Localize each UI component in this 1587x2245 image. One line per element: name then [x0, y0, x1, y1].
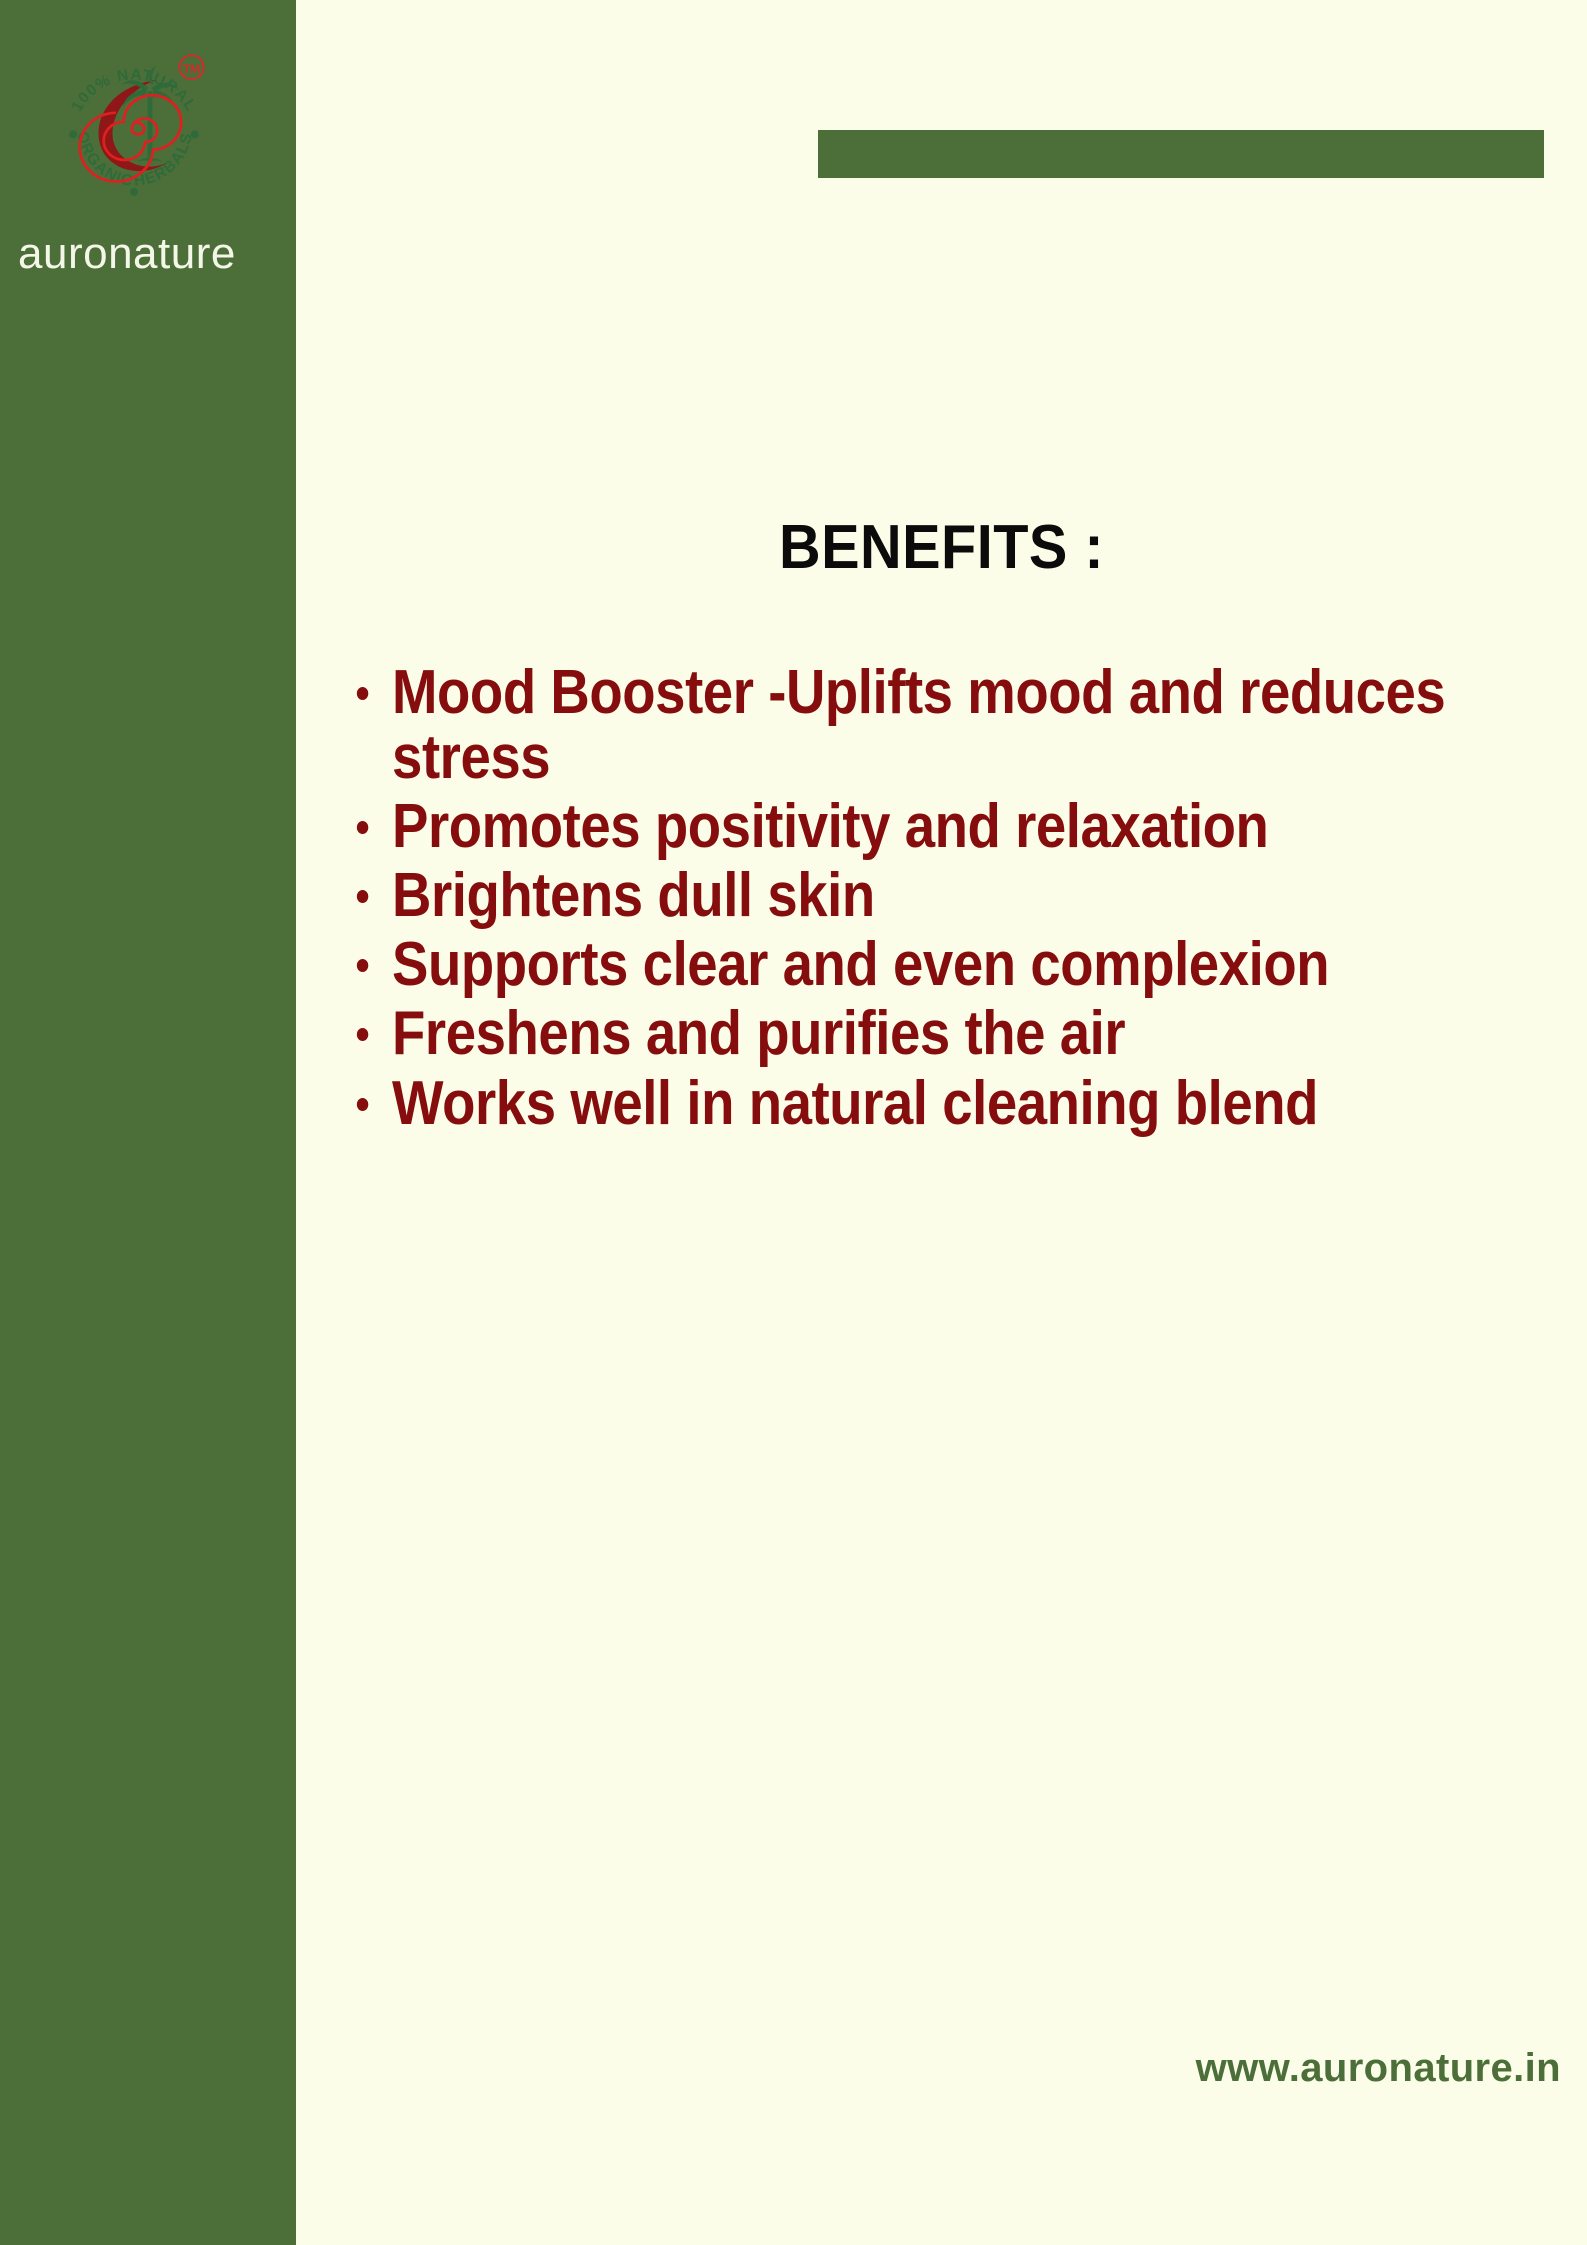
brand-sidebar: 100% NATURAL ORGANIC HERBALS: [0, 0, 296, 2245]
list-item: Brightens dull skin: [341, 863, 1580, 928]
list-item: Mood Booster -Uplifts mood and reduces s…: [341, 660, 1580, 790]
bullet-dot-icon: [357, 1098, 368, 1111]
list-item: Works well in natural cleaning blend: [341, 1071, 1580, 1136]
brand-wordmark: auronature: [18, 232, 308, 276]
list-item-label: Freshens and purifies the air: [392, 999, 1125, 1068]
list-item-label: Promotes positivity and relaxation: [392, 792, 1268, 861]
list-item-label: Supports clear and even complexion: [392, 930, 1329, 999]
bullet-dot-icon: [357, 959, 368, 972]
poster-page: 100% NATURAL ORGANIC HERBALS: [0, 0, 1587, 2245]
list-item-label: Mood Booster -Uplifts mood and reduces s…: [392, 658, 1445, 792]
svg-text:TM: TM: [183, 62, 200, 76]
list-item: Promotes positivity and relaxation: [341, 794, 1580, 859]
list-item-label: Brightens dull skin: [392, 861, 875, 930]
bullet-dot-icon: [357, 821, 368, 834]
bullet-dot-icon: [357, 687, 368, 700]
website-url[interactable]: www.auronature.in: [296, 2048, 1587, 2088]
main-content: BENEFITS : Mood Booster -Uplifts mood an…: [296, 0, 1587, 2245]
benefits-list: Mood Booster -Uplifts mood and reduces s…: [341, 660, 1531, 1140]
list-item-label: Works well in natural cleaning blend: [392, 1069, 1318, 1138]
page-title: BENEFITS :: [341, 517, 1542, 579]
list-item: Freshens and purifies the air: [341, 1001, 1580, 1066]
bullet-dot-icon: [357, 1028, 368, 1041]
bullet-dot-icon: [357, 890, 368, 903]
auronature-seal-logo: 100% NATURAL ORGANIC HERBALS: [54, 40, 214, 200]
list-item: Supports clear and even complexion: [341, 932, 1580, 997]
